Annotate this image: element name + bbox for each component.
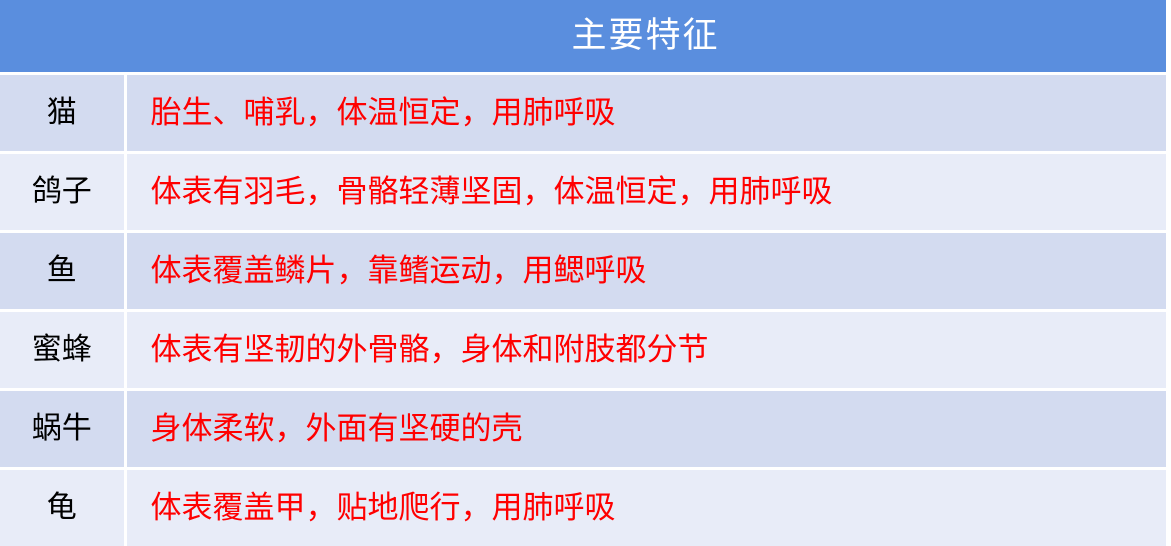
cell-animal-feature: 体表覆盖鳞片，靠鳍运动，用鳃呼吸 bbox=[125, 232, 1166, 311]
table-body: 猫 胎生、哺乳，体温恒定，用肺呼吸 鸽子 体表有羽毛，骨骼轻薄坚固，体温恒定，用… bbox=[0, 74, 1166, 546]
animal-feature-label: 身体柔软，外面有坚硬的壳 bbox=[151, 392, 1167, 466]
table-row: 蜗牛 身体柔软，外面有坚硬的壳 bbox=[0, 390, 1166, 469]
cell-animal-feature: 体表覆盖甲，贴地爬行，用肺呼吸 bbox=[125, 469, 1166, 546]
table-row: 龟 体表覆盖甲，贴地爬行，用肺呼吸 bbox=[0, 469, 1166, 546]
animal-name-label: 鱼 bbox=[0, 234, 124, 308]
cell-animal-name: 蜜蜂 bbox=[0, 311, 125, 390]
animal-name-label: 蜗牛 bbox=[0, 392, 124, 466]
header-cell-name-column bbox=[0, 0, 125, 74]
header-cell-feature-column: 主要特征 bbox=[125, 0, 1166, 74]
animal-feature-label: 体表覆盖鳞片，靠鳍运动，用鳃呼吸 bbox=[151, 234, 1167, 308]
animal-feature-label: 体表有坚韧的外骨骼，身体和附肢都分节 bbox=[151, 313, 1167, 387]
cell-animal-feature: 体表有羽毛，骨骼轻薄坚固，体温恒定，用肺呼吸 bbox=[125, 153, 1166, 232]
feature-table-container: 主要特征 猫 胎生、哺乳，体温恒定，用肺呼吸 鸽子 体表有羽毛，骨骼轻薄坚固，体… bbox=[0, 0, 1171, 532]
animal-name-label: 猫 bbox=[0, 76, 124, 150]
cell-animal-name: 鱼 bbox=[0, 232, 125, 311]
animal-name-label: 蜜蜂 bbox=[0, 313, 124, 387]
table-header: 主要特征 bbox=[0, 0, 1166, 74]
table-row: 蜜蜂 体表有坚韧的外骨骼，身体和附肢都分节 bbox=[0, 311, 1166, 390]
header-title-label: 主要特征 bbox=[125, 0, 1166, 72]
cell-animal-name: 蜗牛 bbox=[0, 390, 125, 469]
animal-name-label: 龟 bbox=[0, 471, 124, 545]
animal-feature-label: 体表覆盖甲，贴地爬行，用肺呼吸 bbox=[151, 471, 1167, 545]
table-row: 鸽子 体表有羽毛，骨骼轻薄坚固，体温恒定，用肺呼吸 bbox=[0, 153, 1166, 232]
cell-animal-name: 龟 bbox=[0, 469, 125, 546]
table-row: 鱼 体表覆盖鳞片，靠鳍运动，用鳃呼吸 bbox=[0, 232, 1166, 311]
cell-animal-name: 鸽子 bbox=[0, 153, 125, 232]
animal-name-label: 鸽子 bbox=[0, 155, 124, 229]
animal-feature-label: 胎生、哺乳，体温恒定，用肺呼吸 bbox=[151, 76, 1167, 150]
animal-feature-label: 体表有羽毛，骨骼轻薄坚固，体温恒定，用肺呼吸 bbox=[151, 155, 1167, 229]
cell-animal-feature: 胎生、哺乳，体温恒定，用肺呼吸 bbox=[125, 74, 1166, 153]
cell-animal-name: 猫 bbox=[0, 74, 125, 153]
cell-animal-feature: 身体柔软，外面有坚硬的壳 bbox=[125, 390, 1166, 469]
animal-feature-table: 主要特征 猫 胎生、哺乳，体温恒定，用肺呼吸 鸽子 体表有羽毛，骨骼轻薄坚固，体… bbox=[0, 0, 1166, 546]
header-row: 主要特征 bbox=[0, 0, 1166, 74]
table-row: 猫 胎生、哺乳，体温恒定，用肺呼吸 bbox=[0, 74, 1166, 153]
cell-animal-feature: 体表有坚韧的外骨骼，身体和附肢都分节 bbox=[125, 311, 1166, 390]
